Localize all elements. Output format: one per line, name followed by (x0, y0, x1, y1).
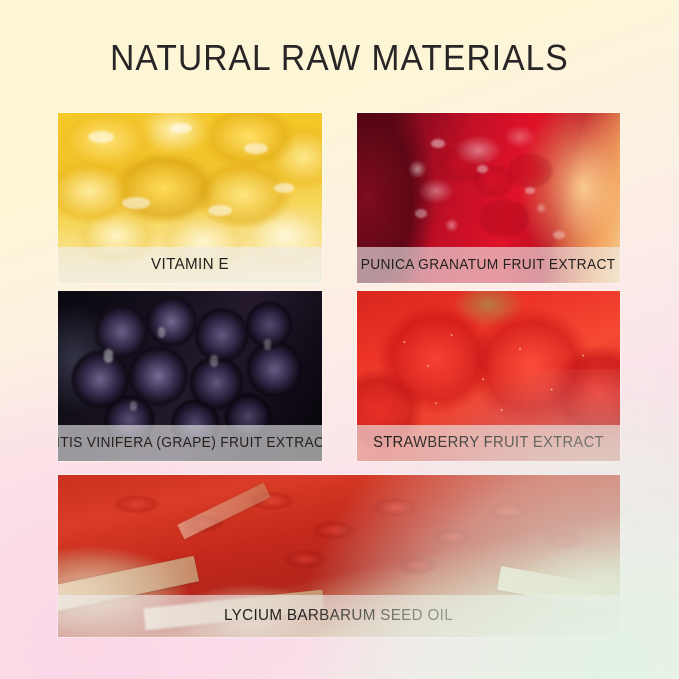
caption-bar-pomegranate: PUNICA GRANATUM FRUIT EXTRACT (357, 247, 620, 283)
caption-bar-strawberry: STRAWBERRY FRUIT EXTRACT (357, 425, 620, 461)
ingredient-label-strawberry: STRAWBERRY FRUIT EXTRACT (373, 434, 604, 452)
ingredient-label-vitamin-e: VITAMIN E (151, 256, 229, 274)
product-ingredients-poster: NATURAL RAW MATERIALS VITAMIN E PUNICA G… (0, 0, 679, 679)
caption-bar-vitamin-e: VITAMIN E (58, 247, 322, 283)
ingredient-card-goji[interactable]: LYCIUM BARBARUM SEED OIL (58, 475, 620, 637)
ingredient-label-grape: VITIS VINIFERA (GRAPE) FRUIT EXTRACT (58, 435, 322, 451)
caption-bar-goji: LYCIUM BARBARUM SEED OIL (58, 595, 620, 637)
ingredient-label-pomegranate: PUNICA GRANATUM FRUIT EXTRACT (361, 257, 616, 273)
ingredient-card-strawberry[interactable]: STRAWBERRY FRUIT EXTRACT (357, 291, 620, 461)
caption-bar-grape: VITIS VINIFERA (GRAPE) FRUIT EXTRACT (58, 425, 322, 461)
ingredient-card-grape[interactable]: VITIS VINIFERA (GRAPE) FRUIT EXTRACT (58, 291, 322, 461)
ingredient-card-pomegranate[interactable]: PUNICA GRANATUM FRUIT EXTRACT (357, 113, 620, 283)
page-title: NATURAL RAW MATERIALS (24, 36, 655, 80)
ingredient-card-vitamin-e[interactable]: VITAMIN E (58, 113, 322, 283)
ingredient-label-goji: LYCIUM BARBARUM SEED OIL (224, 607, 453, 625)
